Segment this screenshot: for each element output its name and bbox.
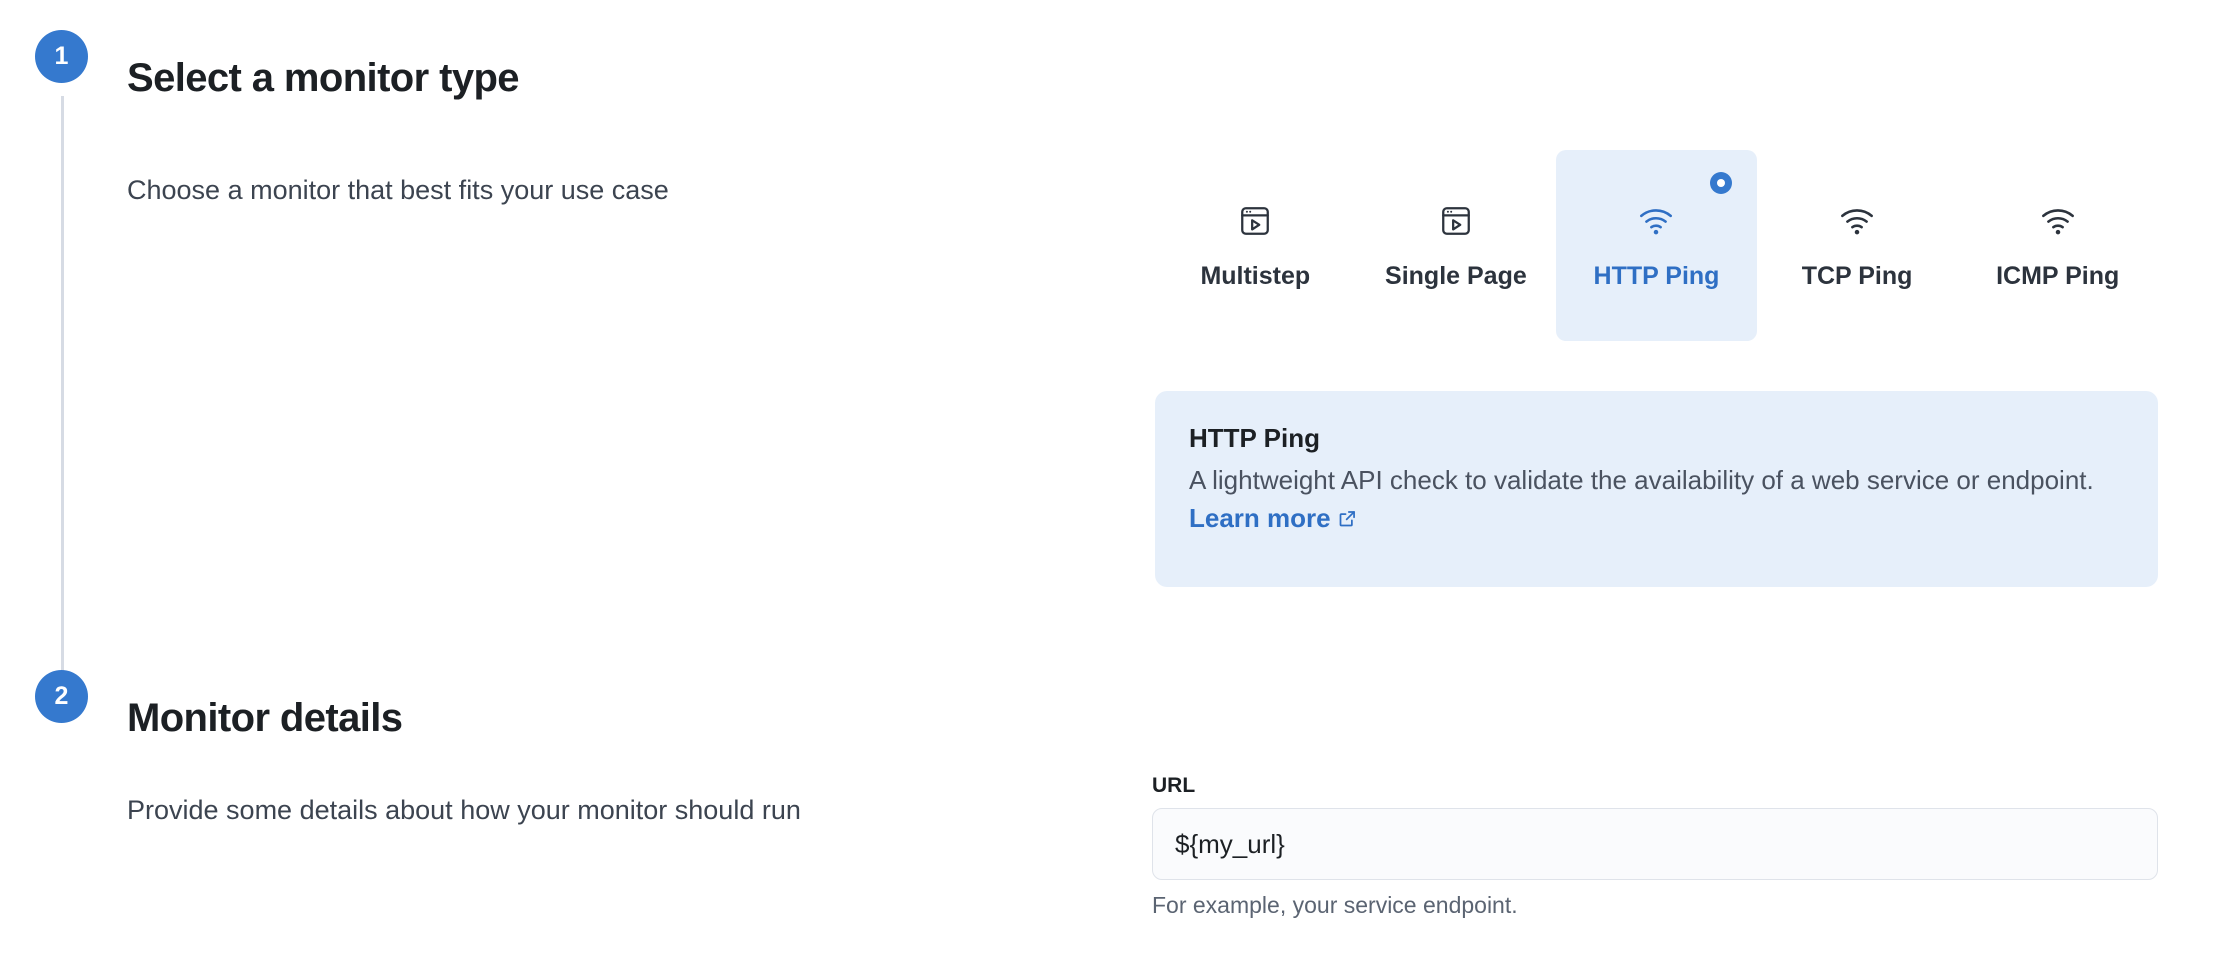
monitor-type-info-panel: HTTP Ping A lightweight API check to val…: [1155, 391, 2158, 587]
monitor-type-label: TCP Ping: [1802, 262, 1913, 291]
stepper-connector-line: [61, 96, 64, 696]
step-number-badge-1: 1: [35, 30, 88, 83]
external-link-icon[interactable]: [1337, 502, 1358, 540]
step-2-title: Monitor details: [127, 696, 402, 741]
monitor-type-card-icmp-ping[interactable]: ICMP Ping: [1957, 150, 2158, 341]
info-panel-description-text: A lightweight API check to validate the …: [1189, 465, 2094, 495]
learn-more-link[interactable]: Learn more: [1189, 503, 1331, 533]
url-input[interactable]: [1152, 808, 2158, 880]
info-panel-title: HTTP Ping: [1189, 423, 2124, 454]
step-1-description: Choose a monitor that best fits your use…: [127, 175, 669, 206]
monitor-type-label: HTTP Ping: [1594, 262, 1720, 291]
info-panel-description: A lightweight API check to validate the …: [1189, 462, 2124, 539]
step-2-description: Provide some details about how your moni…: [127, 795, 801, 826]
monitor-type-label: Single Page: [1385, 262, 1527, 291]
url-field-block: URL For example, your service endpoint.: [1152, 774, 2158, 919]
monitor-type-selector: Multistep Single Page HTTP Ping: [1155, 150, 2158, 341]
monitor-type-card-http-ping[interactable]: HTTP Ping: [1556, 150, 1757, 341]
monitor-type-card-multistep[interactable]: Multistep: [1155, 150, 1356, 341]
step-1-title: Select a monitor type: [127, 56, 519, 101]
url-field-label: URL: [1152, 774, 2158, 798]
wifi-icon: [2040, 198, 2076, 244]
wifi-icon: [1638, 198, 1674, 244]
monitor-type-label: Multistep: [1200, 262, 1310, 291]
monitor-type-card-tcp-ping[interactable]: TCP Ping: [1757, 150, 1958, 341]
radio-selected-icon[interactable]: [1710, 172, 1732, 194]
browser-play-icon: [1238, 198, 1272, 244]
browser-play-icon: [1439, 198, 1473, 244]
monitor-type-card-single-page[interactable]: Single Page: [1356, 150, 1557, 341]
url-field-help-text: For example, your service endpoint.: [1152, 892, 2158, 919]
wifi-icon: [1839, 198, 1875, 244]
step-number-badge-2: 2: [35, 670, 88, 723]
monitor-type-label: ICMP Ping: [1996, 262, 2119, 291]
